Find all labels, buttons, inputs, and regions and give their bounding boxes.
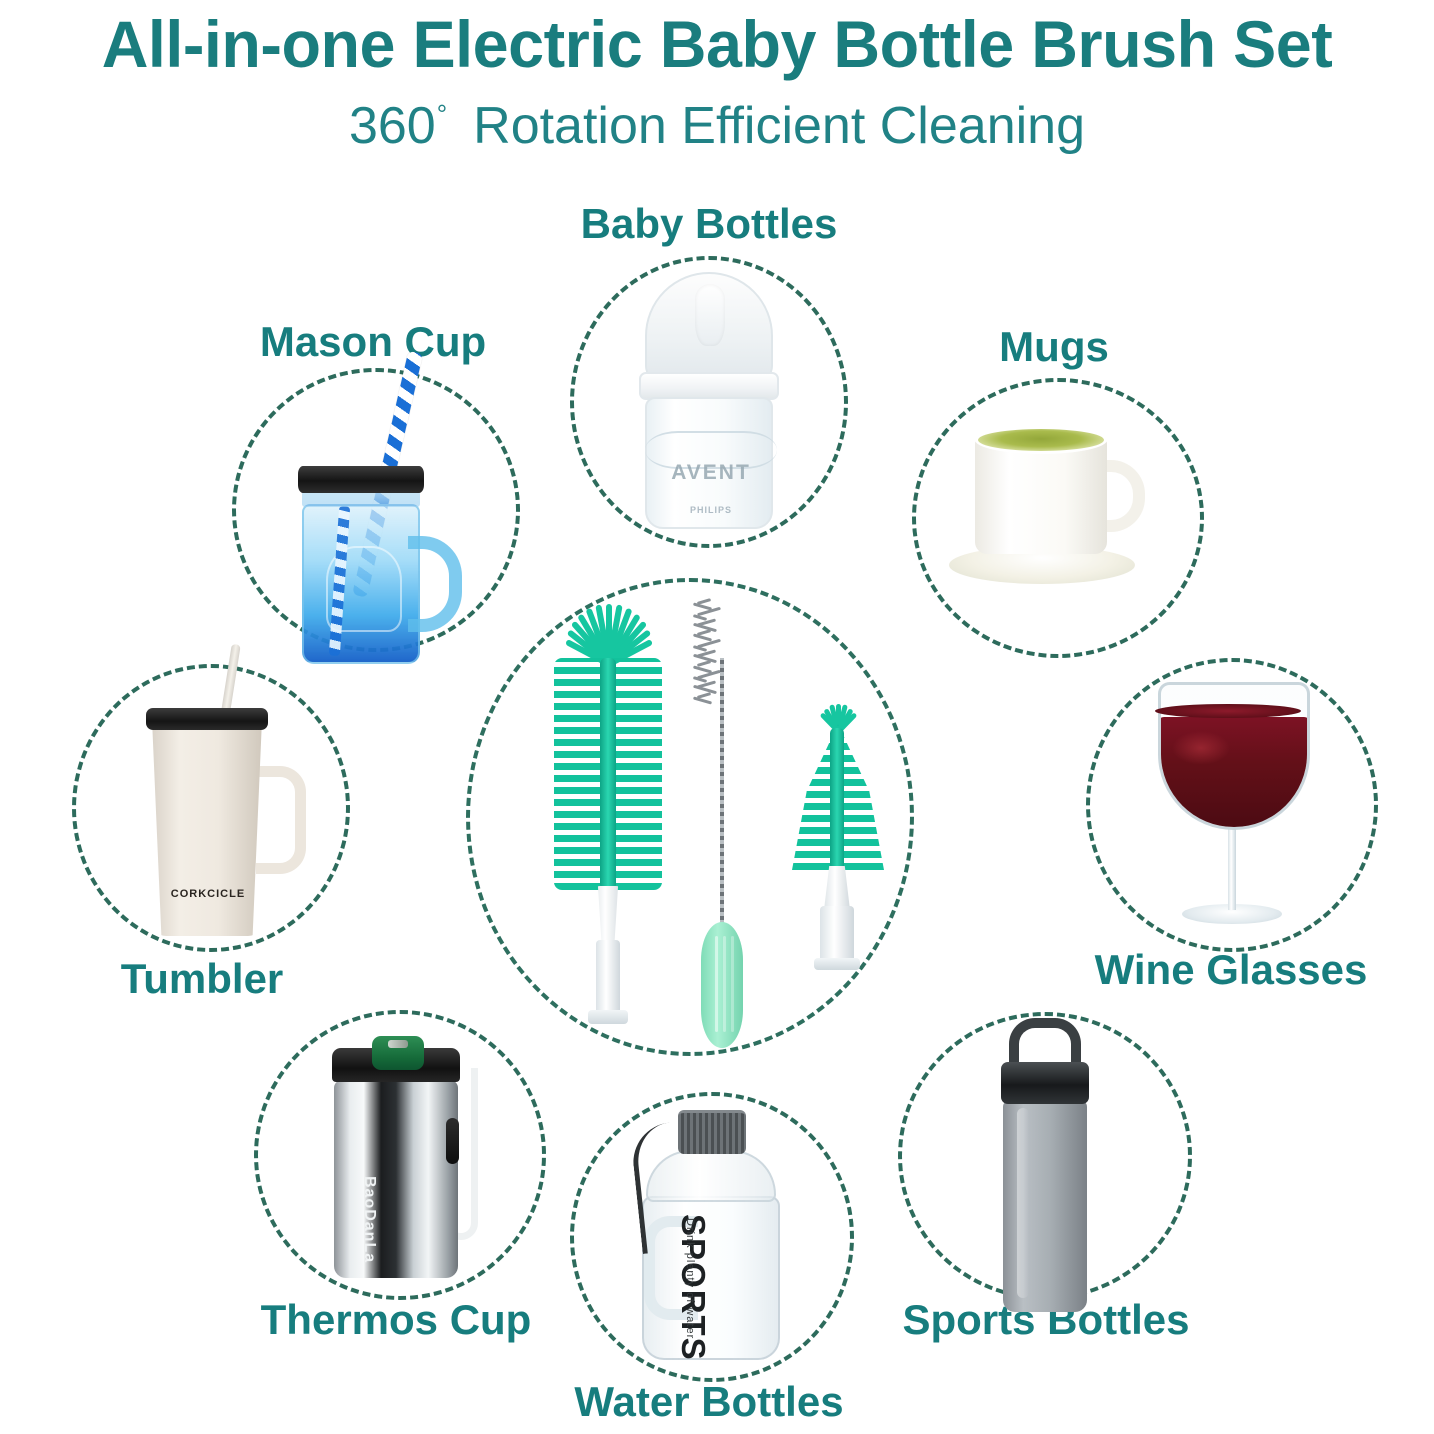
brush-neck: [594, 886, 622, 948]
brush-tip-bristles: [564, 602, 652, 664]
large-silicone-bottle-brush: [554, 618, 662, 1028]
bottle-nipple: [645, 272, 773, 382]
subtitle-text: Rotation Efficient Cleaning: [473, 97, 1085, 155]
small-brush-neck: [824, 866, 850, 910]
label-tumbler: Tumbler: [121, 955, 284, 1003]
degree-symbol-icon: °: [437, 99, 447, 129]
subtitle-degrees: 360: [349, 97, 436, 155]
straw-brush-wire: [720, 658, 724, 928]
page-subtitle: 360°Rotation Efficient Cleaning: [0, 96, 1434, 156]
product-mug: [957, 414, 1153, 614]
small-brush-core: [830, 728, 844, 870]
bottle-collar: [639, 372, 779, 400]
label-thermos-cup: Thermos Cup: [261, 1296, 532, 1344]
sports-bottle-body: [1003, 1100, 1087, 1312]
wine-surface: [1155, 704, 1301, 718]
mug-rim-interior: [975, 426, 1107, 454]
product-sports-bottle: [975, 1018, 1117, 1318]
label-mason-cup: Mason Cup: [260, 318, 486, 366]
wine-glass-stem: [1228, 826, 1236, 910]
page-title: All-in-one Electric Baby Bottle Brush Se…: [14, 6, 1419, 82]
thermos-lid-button: [372, 1036, 424, 1070]
straw-brush-grip: [701, 922, 743, 1048]
water-jug-cap: [678, 1110, 746, 1154]
infographic-root: All-in-one Electric Baby Bottle Brush Se…: [0, 0, 1434, 1434]
tumbler-lid: [146, 708, 268, 730]
product-thermos-cup: BaoDanLa: [318, 1030, 498, 1292]
thermos-strap-clip: [446, 1118, 459, 1164]
sports-bottle-cap: [1001, 1062, 1089, 1104]
product-mason-cup: [290, 398, 470, 658]
product-baby-bottle: AVENT PHILIPS: [623, 272, 795, 534]
mason-jar-neck: [302, 491, 420, 507]
bottle-subbrand-label: PHILIPS: [647, 505, 775, 515]
product-wine-glass: [1152, 676, 1316, 938]
label-mugs: Mugs: [999, 323, 1109, 371]
brush-handle: [596, 940, 620, 1018]
brush-core: [600, 658, 616, 890]
bottle-body: AVENT PHILIPS: [645, 397, 773, 529]
thermos-body: BaoDanLa: [334, 1080, 458, 1278]
label-baby-bottles: Baby Bottles: [581, 200, 838, 248]
water-jug-tagline: Drink plenty of water: [684, 1218, 696, 1339]
red-wine-fill: [1158, 717, 1310, 830]
label-water-bottles: Water Bottles: [574, 1378, 843, 1426]
thin-straw-nipple-brush: [707, 600, 767, 1052]
thermos-brand-label: BaoDanLa: [360, 1176, 378, 1263]
product-tumbler: CORKCICLE: [138, 688, 314, 950]
small-nipple-brush: [792, 710, 884, 974]
mason-jar-body: [302, 504, 420, 664]
bottle-brand-label: AVENT: [647, 461, 775, 485]
tumbler-handle: [256, 766, 306, 874]
small-brush-handle: [820, 906, 854, 964]
mason-jar-lid: [298, 466, 424, 493]
small-brush-handle-end: [814, 958, 860, 970]
product-water-bottle: SPORTS Drink plenty of water: [630, 1106, 794, 1370]
tumbler-brand-label: CORKCICLE: [164, 888, 252, 900]
label-wine-glasses: Wine Glasses: [1095, 946, 1368, 994]
brush-handle-end: [588, 1010, 628, 1024]
mason-jar-handle: [408, 536, 462, 632]
tumbler-body: [150, 726, 264, 936]
